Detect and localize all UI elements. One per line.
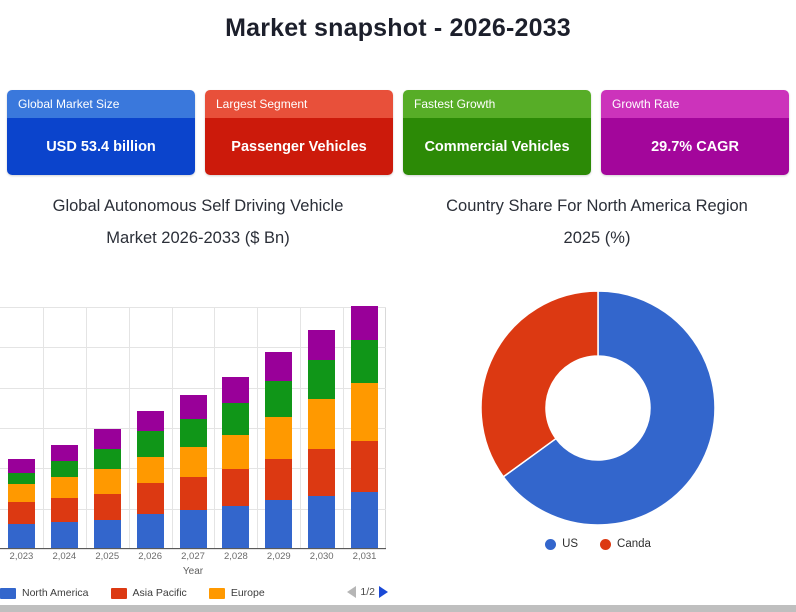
bar-segment[interactable] (137, 411, 164, 431)
bar-slot (300, 307, 343, 548)
bar-segment[interactable] (265, 417, 292, 459)
bar-segment[interactable] (8, 524, 35, 548)
x-tick-label: 2,029 (257, 551, 300, 562)
legend-item[interactable]: Asia Pacific (111, 587, 187, 599)
bar-segment[interactable] (51, 461, 78, 477)
kpi-card-value: Commercial Vehicles (403, 118, 591, 175)
x-tick-label: 2,030 (300, 551, 343, 562)
bar-chart-x-tick-labels: 2,0232,0242,0252,0262,0272,0282,0292,030… (0, 551, 386, 562)
x-tick-label: 2,023 (0, 551, 43, 562)
bar-chart[interactable]: 2,0232,0242,0252,0262,0272,0282,0292,030… (0, 300, 398, 600)
stacked-bar[interactable] (180, 395, 207, 548)
bar-segment[interactable] (222, 506, 249, 548)
x-tick-label: 2,026 (129, 551, 172, 562)
bar-chart-plot-area (0, 307, 386, 549)
donut-chart-title-line2: 2025 (%) (402, 222, 792, 254)
bar-slot (43, 307, 86, 548)
bar-chart-x-axis-line (0, 548, 386, 549)
bar-slot (172, 307, 215, 548)
kpi-card-value: Passenger Vehicles (205, 118, 393, 175)
donut-chart-title-line1: Country Share For North America Region (402, 190, 792, 222)
bar-segment[interactable] (222, 435, 249, 469)
bar-segment[interactable] (51, 445, 78, 461)
bar-segment[interactable] (180, 477, 207, 509)
page-title: Market snapshot - 2026-2033 (0, 14, 796, 43)
legend-dot (545, 539, 556, 550)
triangle-right-icon[interactable] (379, 586, 388, 598)
bar-segment[interactable] (8, 473, 35, 483)
legend-label: North America (22, 587, 89, 599)
bar-chart-title-line2: Market 2026-2033 ($ Bn) (4, 222, 392, 254)
bar-segment[interactable] (222, 403, 249, 435)
bar-slot (86, 307, 129, 548)
triangle-left-icon[interactable] (347, 586, 356, 598)
donut-chart-plot-area (400, 280, 796, 535)
gridline (0, 549, 386, 550)
bar-segment[interactable] (8, 484, 35, 502)
stacked-bar[interactable] (51, 445, 78, 548)
bar-segment[interactable] (137, 514, 164, 548)
bar-segment[interactable] (51, 477, 78, 497)
bar-chart-title: Global Autonomous Self Driving Vehicle M… (4, 190, 392, 254)
bottom-strip (0, 605, 796, 612)
legend-swatch (0, 588, 16, 599)
stacked-bar[interactable] (8, 459, 35, 548)
legend-swatch (111, 588, 127, 599)
bar-segment[interactable] (265, 352, 292, 380)
bar-segment[interactable] (137, 457, 164, 483)
legend-label: Asia Pacific (133, 587, 187, 599)
legend-item[interactable]: Canda (600, 538, 651, 550)
bar-segment[interactable] (137, 483, 164, 513)
stacked-bar[interactable] (137, 411, 164, 548)
stacked-bar[interactable] (222, 377, 249, 548)
dashboard-page: Market snapshot - 2026-2033 Global Marke… (0, 0, 796, 612)
bar-segment[interactable] (222, 377, 249, 403)
bar-chart-x-axis-title: Year (0, 566, 386, 577)
bar-segment[interactable] (308, 449, 335, 495)
x-tick-label: 2,027 (172, 551, 215, 562)
legend-label: Canda (617, 538, 651, 550)
bar-segment[interactable] (94, 449, 121, 469)
kpi-card-label: Largest Segment (205, 90, 393, 118)
bar-segment[interactable] (137, 431, 164, 457)
bar-chart-pager[interactable]: 1/2 (347, 586, 388, 598)
bar-segment[interactable] (351, 383, 378, 441)
legend-dot (600, 539, 611, 550)
pager-label: 1/2 (360, 586, 375, 598)
bar-segment[interactable] (265, 381, 292, 417)
kpi-card-row: Global Market Size USD 53.4 billion Larg… (7, 90, 789, 175)
kpi-card-largest-segment[interactable]: Largest Segment Passenger Vehicles (205, 90, 393, 175)
stacked-bar[interactable] (94, 429, 121, 548)
bar-segment[interactable] (308, 360, 335, 398)
bar-segment[interactable] (308, 399, 335, 449)
bar-segment[interactable] (308, 330, 335, 360)
bar-segment[interactable] (94, 469, 121, 493)
kpi-card-value: 29.7% CAGR (601, 118, 789, 175)
x-tick-label: 2,031 (343, 551, 386, 562)
kpi-card-label: Global Market Size (7, 90, 195, 118)
bar-segment[interactable] (265, 500, 292, 548)
stacked-bar[interactable] (265, 352, 292, 548)
bar-segment[interactable] (8, 459, 35, 473)
bar-chart-title-line1: Global Autonomous Self Driving Vehicle (4, 190, 392, 222)
donut-chart-legend[interactable]: USCanda (400, 538, 796, 550)
kpi-card-growth-rate[interactable]: Growth Rate 29.7% CAGR (601, 90, 789, 175)
x-tick-label: 2,025 (86, 551, 129, 562)
bar-slot (214, 307, 257, 548)
bar-segment[interactable] (51, 498, 78, 522)
bar-segment[interactable] (222, 469, 249, 505)
donut-chart-title: Country Share For North America Region 2… (402, 190, 792, 254)
bar-slot (257, 307, 300, 548)
donut-chart[interactable]: USCanda (400, 280, 796, 590)
bar-segment[interactable] (351, 306, 378, 340)
bar-segment[interactable] (265, 459, 292, 499)
bar-segment[interactable] (180, 447, 207, 477)
legend-label: Europe (231, 587, 265, 599)
bar-segment[interactable] (94, 429, 121, 449)
bar-chart-legend[interactable]: North AmericaAsia PacificEurope (0, 587, 396, 599)
bar-segment[interactable] (94, 494, 121, 520)
bar-slot (343, 307, 386, 548)
bar-slot (129, 307, 172, 548)
bar-segment[interactable] (351, 340, 378, 382)
kpi-card-label: Growth Rate (601, 90, 789, 118)
donut-slice[interactable] (481, 291, 598, 477)
legend-item[interactable]: Europe (209, 587, 265, 599)
x-tick-label: 2,024 (43, 551, 86, 562)
bar-segment[interactable] (180, 510, 207, 548)
legend-swatch (209, 588, 225, 599)
x-tick-label: 2,028 (214, 551, 257, 562)
kpi-card-fastest-growth[interactable]: Fastest Growth Commercial Vehicles (403, 90, 591, 175)
stacked-bar[interactable] (351, 306, 378, 548)
stacked-bar[interactable] (308, 330, 335, 548)
bar-segment[interactable] (180, 419, 207, 447)
bar-segment[interactable] (8, 502, 35, 524)
legend-item[interactable]: North America (0, 587, 89, 599)
bar-segment[interactable] (51, 522, 78, 548)
bar-segment[interactable] (180, 395, 207, 419)
donut-svg[interactable] (478, 288, 718, 528)
legend-item[interactable]: US (545, 538, 578, 550)
bar-chart-bars (0, 307, 386, 548)
legend-label: US (562, 538, 578, 550)
kpi-card-global-market-size[interactable]: Global Market Size USD 53.4 billion (7, 90, 195, 175)
kpi-card-value: USD 53.4 billion (7, 118, 195, 175)
bar-segment[interactable] (308, 496, 335, 548)
bar-slot (0, 307, 43, 548)
bar-segment[interactable] (351, 441, 378, 491)
bar-segment[interactable] (351, 492, 378, 548)
bar-segment[interactable] (94, 520, 121, 548)
kpi-card-label: Fastest Growth (403, 90, 591, 118)
